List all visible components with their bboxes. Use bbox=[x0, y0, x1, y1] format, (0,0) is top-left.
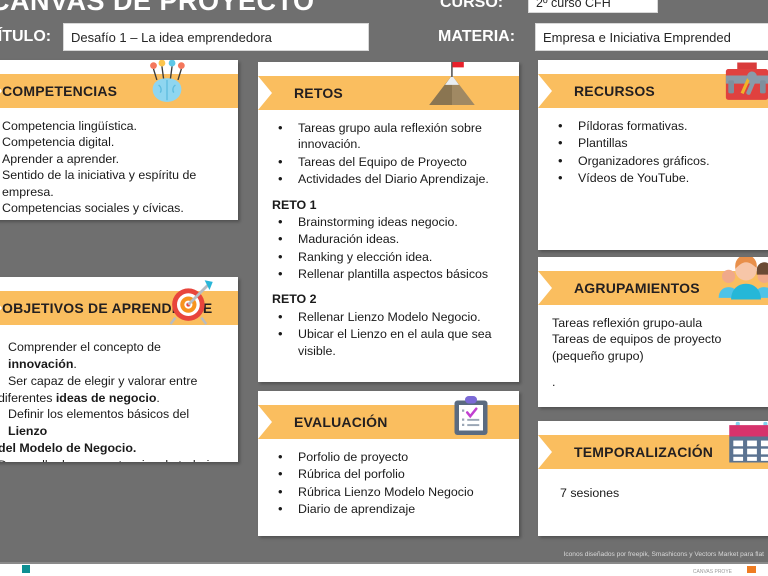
card-recursos: RECURSOS Píldoras formativas. Plantillas… bbox=[538, 60, 768, 250]
credits-text: Iconos diseñados por freepik, Smashicons… bbox=[564, 551, 764, 558]
competencias-line: Sentido de la iniciativa y espíritu de bbox=[2, 167, 226, 183]
reto1-list: Brainstorming ideas negocio. Maduración … bbox=[272, 214, 507, 283]
objetivos-line: Comprender el concepto de innovación. bbox=[0, 339, 226, 373]
card-body-temporalizacion: 7 sesiones bbox=[538, 469, 768, 509]
materia-label: MATERIA: bbox=[438, 28, 515, 46]
taskbar-label: CANVAS PROYE bbox=[693, 569, 732, 575]
objetivos-line: Desarrollar las competencias de trabajo bbox=[0, 457, 226, 462]
ribbon-evaluacion: EVALUACIÓN bbox=[258, 405, 519, 439]
titulo-field[interactable]: Desafío 1 – La idea emprendedora bbox=[63, 23, 369, 51]
card-objetivos: OBJETIVOS DE APRENDIZAJE Comprender el c… bbox=[0, 277, 238, 462]
list-item: Rúbrica del porfolio bbox=[272, 466, 507, 482]
card-body-objetivos: Comprender el concepto de innovación. Se… bbox=[0, 325, 238, 462]
card-body-retos: Tareas grupo aula reflexión sobre innova… bbox=[258, 110, 519, 368]
list-item: Rellenar plantilla aspectos básicos bbox=[272, 266, 507, 282]
list-item: Ubicar el Lienzo en el aula que sea visi… bbox=[272, 326, 507, 359]
ribbon-tail bbox=[759, 74, 768, 108]
objetivos-line: Definir los elementos básicos del Lienzo bbox=[0, 406, 226, 440]
reto1-heading: RETO 1 bbox=[272, 197, 507, 213]
curso-field[interactable]: 2º curso CFH bbox=[528, 0, 658, 13]
ribbon-tail bbox=[759, 271, 768, 305]
objetivos-line: del Modelo de Negocio. bbox=[0, 440, 226, 457]
reto2-list: Rellenar Lienzo Modelo Negocio. Ubicar e… bbox=[272, 309, 507, 359]
agrupamientos-line: . bbox=[552, 374, 768, 390]
card-title-objetivos: OBJETIVOS DE APRENDIZAJE bbox=[2, 291, 212, 325]
curso-label: CURSO: bbox=[440, 0, 503, 12]
card-body-agrupamientos: Tareas reflexión grupo-aula Tareas de eq… bbox=[538, 305, 768, 399]
taskbar-accent-icon[interactable] bbox=[747, 566, 756, 573]
competencias-line: empresa. bbox=[2, 184, 226, 200]
agrupamientos-line: Tareas de equipos de proyecto bbox=[552, 331, 768, 347]
competencias-line: Competencia digital. bbox=[2, 134, 226, 150]
card-title-agrupamientos: AGRUPAMIENTOS bbox=[574, 271, 700, 305]
ribbon-tail bbox=[759, 435, 768, 469]
list-item: Plantillas bbox=[552, 135, 768, 151]
competencias-line: Aprender a aprender. bbox=[2, 151, 226, 167]
titulo-label: TÍTULO: bbox=[0, 28, 51, 46]
list-item: Ranking y elección idea. bbox=[272, 249, 507, 265]
taskbar-app-icon[interactable] bbox=[22, 565, 30, 573]
recursos-list: Píldoras formativas. Plantillas Organiza… bbox=[552, 118, 768, 187]
list-item: Organizadores gráficos. bbox=[552, 153, 768, 169]
competencias-line: Competencia lingüística. bbox=[2, 118, 226, 134]
list-item: Actividades del Diario Aprendizaje. bbox=[272, 171, 507, 187]
card-title-recursos: RECURSOS bbox=[574, 74, 655, 108]
list-item: Porfolio de proyecto bbox=[272, 449, 507, 465]
card-title-competencias: COMPETENCIAS bbox=[2, 74, 117, 108]
list-item: Tareas grupo aula reflexión sobre innova… bbox=[272, 120, 507, 153]
objetivos-line: diferentes ideas de negocio. bbox=[0, 390, 226, 407]
card-title-evaluacion: EVALUACIÓN bbox=[294, 405, 388, 439]
list-item: Píldoras formativas. bbox=[552, 118, 768, 134]
list-item: Tareas del Equipo de Proyecto bbox=[272, 154, 507, 170]
card-retos: RETOS Tareas grupo aula reflexión sobre … bbox=[258, 62, 519, 382]
card-agrupamientos: AGRUPAMIENTOS Tareas reflexión grupo-aul… bbox=[538, 257, 768, 407]
evaluacion-list: Porfolio de proyecto Rúbrica del porfoli… bbox=[272, 449, 507, 518]
ribbon-agrupamientos: AGRUPAMIENTOS bbox=[538, 271, 768, 305]
card-title-retos: RETOS bbox=[294, 76, 343, 110]
card-body-recursos: Píldoras formativas. Plantillas Organiza… bbox=[538, 108, 768, 196]
taskbar[interactable]: CANVAS PROYE bbox=[0, 564, 768, 576]
list-item: Vídeos de YouTube. bbox=[552, 170, 768, 186]
ribbon-recursos: RECURSOS bbox=[538, 74, 768, 108]
materia-field[interactable]: Empresa e Iniciativa Emprended bbox=[535, 23, 768, 51]
objetivos-line: Ser capaz de elegir y valorar entre bbox=[0, 373, 226, 390]
ribbon-retos: RETOS bbox=[258, 76, 519, 110]
retos-intro-list: Tareas grupo aula reflexión sobre innova… bbox=[272, 120, 507, 188]
list-item: Rúbrica Lienzo Modelo Negocio bbox=[272, 484, 507, 500]
ribbon-temporalizacion: TEMPORALIZACIÓN bbox=[538, 435, 768, 469]
agrupamientos-line: Tareas reflexión grupo-aula bbox=[552, 315, 768, 331]
list-item: Brainstorming ideas negocio. bbox=[272, 214, 507, 230]
competencias-line: Competencias sociales y cívicas. bbox=[2, 200, 226, 216]
card-competencias: COMPETENCIAS Competencia lingüística. Co… bbox=[0, 60, 238, 220]
temporalizacion-line: 7 sesiones bbox=[560, 485, 768, 501]
list-item: Diario de aprendizaje bbox=[272, 501, 507, 517]
page-title: CANVAS DE PROYECTO bbox=[0, 0, 315, 17]
agrupamientos-line: (pequeño grupo) bbox=[552, 348, 768, 364]
reto2-heading: RETO 2 bbox=[272, 291, 507, 307]
header-bar: CANVAS DE PROYECTO TÍTULO: Desafío 1 – L… bbox=[0, 0, 768, 55]
card-temporalizacion: TEMPORALIZACIÓN 7 sesiones bbox=[538, 421, 768, 536]
list-item: Maduración ideas. bbox=[272, 231, 507, 247]
card-title-temporalizacion: TEMPORALIZACIÓN bbox=[574, 435, 713, 469]
card-body-competencias: Competencia lingüística. Competencia dig… bbox=[0, 108, 238, 220]
ribbon-objetivos: OBJETIVOS DE APRENDIZAJE bbox=[0, 291, 238, 325]
card-body-evaluacion: Porfolio de proyecto Rúbrica del porfoli… bbox=[258, 439, 519, 527]
ribbon-competencias: COMPETENCIAS bbox=[0, 74, 238, 108]
list-item: Rellenar Lienzo Modelo Negocio. bbox=[272, 309, 507, 325]
card-evaluacion: EVALUACIÓN Porfolio de proyecto Rúbrica … bbox=[258, 391, 519, 536]
